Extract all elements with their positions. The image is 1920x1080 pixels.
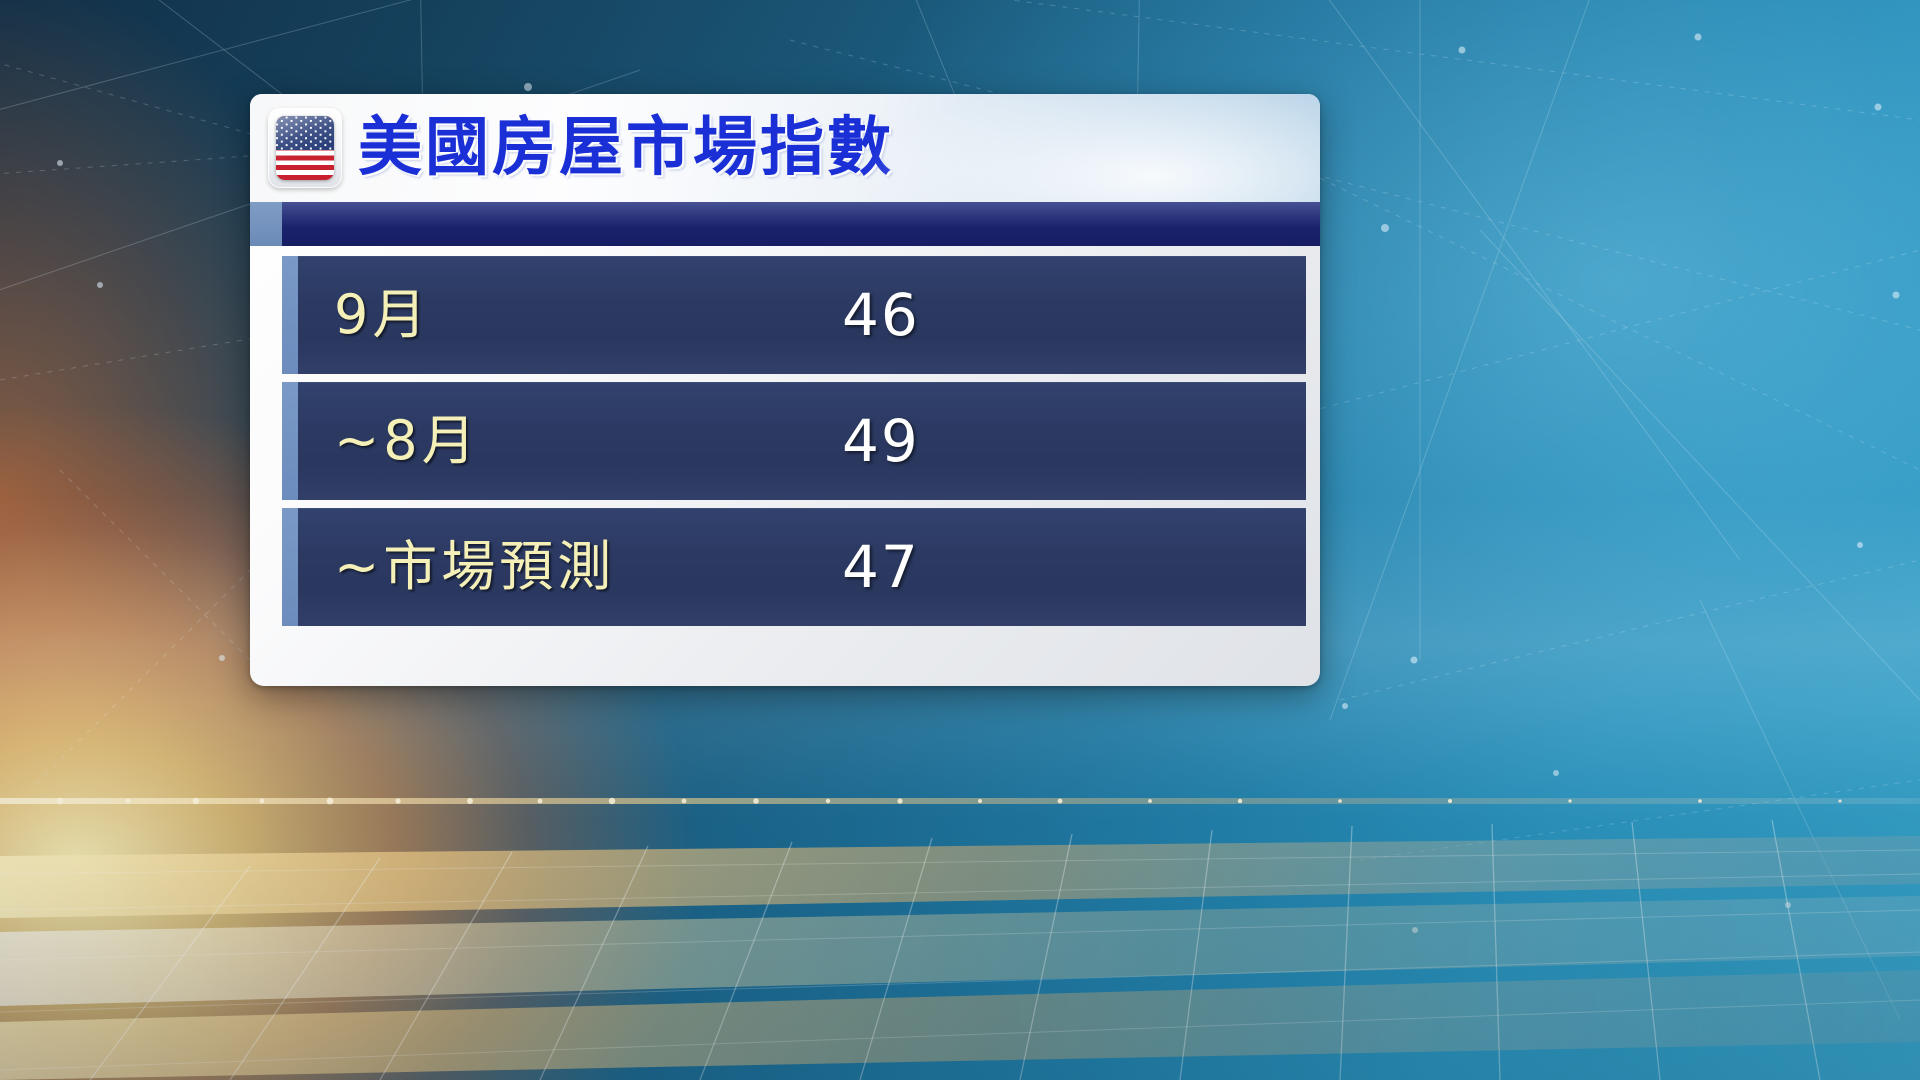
ribbon-shadow-overlay: [0, 660, 1920, 1080]
flag-gloss: [276, 116, 334, 180]
data-rows: 9月 46 ~8月 49 ~市場預測 47: [250, 246, 1320, 626]
row-accent-bar: [282, 508, 298, 626]
row-label: 9月: [334, 288, 430, 342]
page-title: 美國房屋市場指數: [358, 116, 894, 180]
card-header: 美國房屋市場指數: [250, 94, 1320, 202]
table-row: ~市場預測 47: [282, 508, 1306, 626]
row-label: ~8月: [334, 414, 480, 468]
table-row: ~8月 49: [282, 382, 1306, 500]
row-value: 46: [842, 286, 920, 344]
header-band-tab: [250, 202, 282, 246]
header-band-gloss: [282, 202, 1320, 228]
table-row: 9月 46: [282, 256, 1306, 374]
row-label: ~市場預測: [334, 540, 615, 594]
stat-card: 美國房屋市場指數 9月 46 ~8月 49 ~市場預測 47: [250, 94, 1320, 686]
flag-inner: [276, 116, 334, 180]
row-accent-bar: [282, 382, 298, 500]
row-accent-bar: [282, 256, 298, 374]
row-value: 47: [842, 538, 920, 596]
header-accent-band: [250, 202, 1320, 246]
us-flag-icon: [268, 108, 342, 188]
row-value: 49: [842, 412, 920, 470]
